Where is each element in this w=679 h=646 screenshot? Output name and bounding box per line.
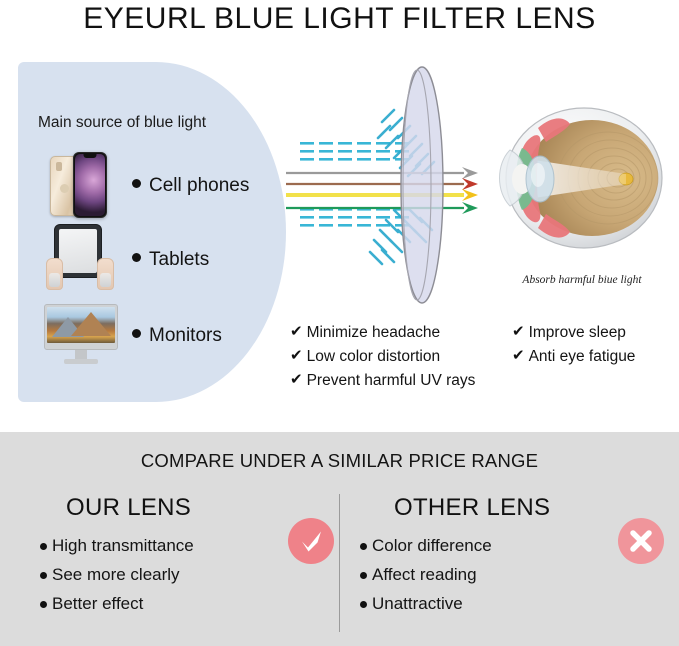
compare-column-our-lens: OUR LENS High transmittance See more cle… [40, 494, 340, 623]
source-label-text: Monitors [149, 325, 222, 346]
bullet-icon [40, 601, 47, 608]
compare-item-label: Better effect [52, 594, 143, 614]
feature-column-left: ✔ Minimize headache ✔ Low color distorti… [290, 324, 505, 396]
page-title: EYEURL BLUE LIGHT FILTER LENS [0, 2, 679, 36]
source-label-monitors: Monitors [132, 325, 222, 347]
source-row-monitors: Monitors [40, 300, 222, 372]
hand-icon [97, 258, 114, 290]
feature-item: ✔ Minimize headache [290, 324, 505, 342]
top-section: Main source of blue light Cell phones Ta… [0, 52, 679, 432]
compare-item: Better effect [40, 594, 340, 614]
bullet-icon [132, 253, 141, 262]
eye-anatomy-icon [492, 80, 672, 280]
check-icon: ✔ [512, 324, 525, 341]
compare-column-title: OTHER LENS [394, 494, 660, 522]
bullet-icon [132, 179, 141, 188]
compare-item-label: See more clearly [52, 565, 180, 585]
compare-section: COMPARE UNDER A SIMILAR PRICE RANGE OUR … [0, 432, 679, 646]
compare-item-label: High transmittance [52, 536, 194, 556]
feature-label: Minimize headache [307, 324, 441, 342]
compare-item: Affect reading [360, 565, 660, 585]
feature-item: ✔ Anti eye fatigue [512, 348, 679, 366]
bullet-icon [40, 543, 47, 550]
compare-item-label: Affect reading [372, 565, 477, 585]
feature-item: ✔ Prevent harmful UV rays [290, 372, 505, 390]
bullet-icon [360, 572, 367, 579]
tablet-icon [40, 224, 122, 296]
bullet-icon [360, 543, 367, 550]
source-label-text: Tablets [149, 249, 209, 270]
check-icon: ✔ [290, 324, 303, 341]
source-row-cell-phones: Cell phones [40, 150, 249, 222]
hand-icon [46, 258, 63, 290]
feature-label: Low color distortion [307, 348, 441, 366]
compare-heading: COMPARE UNDER A SIMILAR PRICE RANGE [0, 450, 679, 472]
compare-column-title: OUR LENS [66, 494, 340, 522]
source-label-cell-phones: Cell phones [132, 175, 249, 197]
feature-label: Prevent harmful UV rays [307, 372, 476, 390]
compare-item: Unattractive [360, 594, 660, 614]
check-icon: ✔ [290, 372, 303, 389]
source-row-tablets: Tablets [40, 224, 209, 296]
bullet-icon [132, 329, 141, 338]
check-badge-icon [288, 518, 334, 564]
lens-cross-section-icon [286, 60, 496, 310]
compare-column-other-lens: OTHER LENS Color difference Affect readi… [360, 494, 660, 623]
compare-item-label: Color difference [372, 536, 492, 556]
check-icon: ✔ [290, 348, 303, 365]
eye-diagram-caption: Absorb harmful biue light [492, 274, 672, 286]
feature-item: ✔ Improve sleep [512, 324, 679, 342]
infographic-page: EYEURL BLUE LIGHT FILTER LENS Main sourc… [0, 0, 679, 646]
desktop-monitor-icon [40, 300, 122, 372]
check-icon: ✔ [512, 348, 525, 365]
feature-label: Improve sleep [529, 324, 626, 342]
source-label-text: Cell phones [149, 175, 249, 196]
bullet-icon [360, 601, 367, 608]
feature-label: Anti eye fatigue [529, 348, 636, 366]
smartphone-icon [40, 150, 122, 222]
compare-item: See more clearly [40, 565, 340, 585]
compare-item: Color difference [360, 536, 660, 556]
feature-column-right: ✔ Improve sleep ✔ Anti eye fatigue [512, 324, 679, 372]
blue-panel-heading: Main source of blue light [38, 114, 206, 132]
source-label-tablets: Tablets [132, 249, 209, 271]
feature-item: ✔ Low color distortion [290, 348, 505, 366]
bullet-icon [40, 572, 47, 579]
compare-item-label: Unattractive [372, 594, 463, 614]
cross-badge-icon [618, 518, 664, 564]
